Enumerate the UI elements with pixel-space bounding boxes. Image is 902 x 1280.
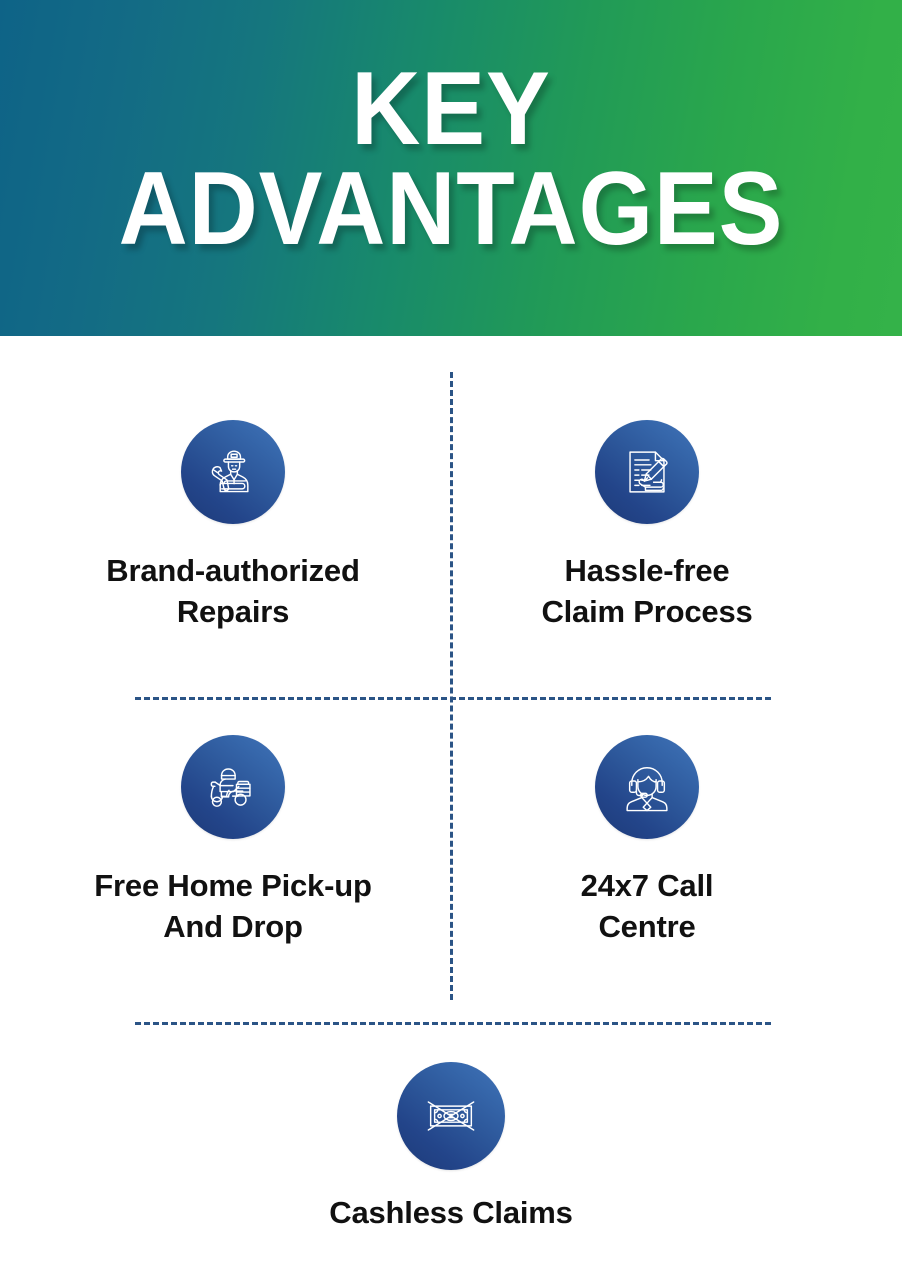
header-banner: KEY ADVANTAGES [0, 0, 902, 336]
advantage-label: Brand-authorized Repairs [28, 550, 438, 632]
advantage-label: Cashless Claims [246, 1192, 656, 1233]
key-advantages-poster: KEY ADVANTAGES [0, 0, 902, 1280]
icon-badge [595, 420, 699, 524]
headset-support-agent-icon [616, 756, 678, 818]
advantage-card-24x7-call-centre: 24x7 Call Centre [442, 735, 852, 947]
mechanic-wrench-icon [202, 441, 264, 503]
page-title: KEY ADVANTAGES [36, 60, 866, 260]
delivery-scooter-icon [202, 756, 264, 818]
no-cash-banknote-icon [420, 1085, 482, 1147]
document-pencil-hand-icon [616, 441, 678, 503]
icon-badge [595, 735, 699, 839]
advantage-card-brand-authorized-repairs: Brand-authorized Repairs [28, 420, 438, 632]
horizontal-divider-top [135, 697, 771, 700]
advantage-label: Hassle-free Claim Process [442, 550, 852, 632]
advantage-card-free-home-pickup-and-drop: Free Home Pick-up And Drop [28, 735, 438, 947]
horizontal-divider-bottom [135, 1022, 771, 1025]
icon-badge [181, 735, 285, 839]
advantage-label: Free Home Pick-up And Drop [28, 865, 438, 947]
advantage-card-cashless-claims: Cashless Claims [246, 1062, 656, 1233]
icon-badge [181, 420, 285, 524]
icon-badge [397, 1062, 505, 1170]
advantage-label: 24x7 Call Centre [442, 865, 852, 947]
advantage-card-hassle-free-claim-process: Hassle-free Claim Process [442, 420, 852, 632]
